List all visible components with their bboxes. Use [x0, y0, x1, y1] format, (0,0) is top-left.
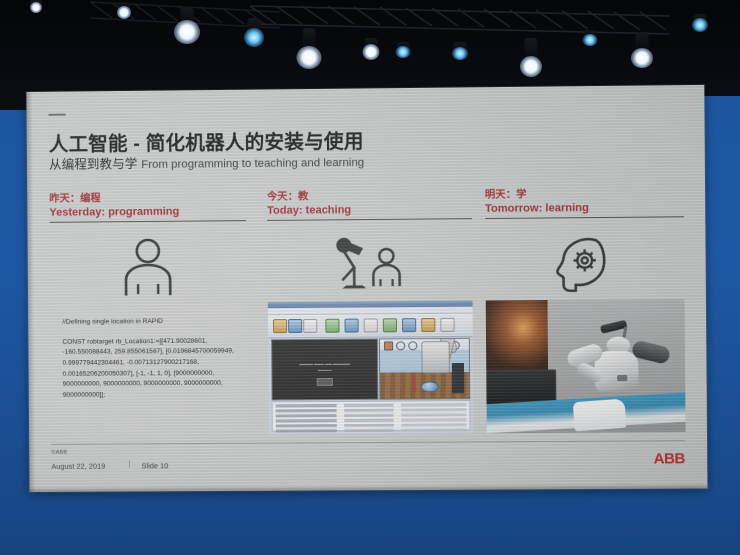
- toolbar-icon[interactable]: [344, 319, 358, 333]
- column-header-cn: 昨天：编程: [49, 188, 246, 205]
- slide-number: Slide 10: [141, 461, 168, 470]
- column-header-en: Tomorrow: learning: [485, 201, 684, 215]
- modal-dialog-panel: ▬▬▬▬ ▬▬▬ ▬▬ ▬▬▬▬▬ ▬▬▬▬: [271, 338, 378, 400]
- table-row: [276, 413, 467, 417]
- column-header-en: Yesterday: programming: [49, 205, 246, 219]
- viewport-icon[interactable]: [384, 341, 393, 350]
- column-header-today: 今天：教 Today: teaching: [267, 186, 472, 221]
- head-with-gear-icon: [485, 229, 684, 293]
- column-header-yesterday: 昨天：编程 Yesterday: programming: [49, 188, 246, 223]
- title-tick-mark: [49, 114, 66, 116]
- table-row: [276, 423, 467, 427]
- data-table-panel: [272, 400, 471, 431]
- footer-divider: [51, 440, 684, 445]
- abb-logo: ABB: [654, 450, 685, 467]
- slide-canvas: 人工智能 - 简化机器人的安装与使用 从编程到教与学From programmi…: [26, 85, 707, 492]
- toolbar-icon[interactable]: [325, 319, 339, 333]
- viewport-icon[interactable]: [396, 341, 405, 350]
- subtitle-en: From programming to teaching and learnin…: [141, 157, 364, 171]
- robotstudio-screenshot-panel: ▬▬▬▬ ▬▬▬ ▬▬ ▬▬▬▬▬ ▬▬▬▬: [268, 301, 474, 435]
- robot-arm-with-person-icon: [267, 231, 472, 295]
- code-body: CONST robtarget rb_Location1:=[[471.9002…: [62, 336, 237, 401]
- toolbar-icon[interactable]: [364, 318, 378, 332]
- subtitle-cn: 从编程到教与学: [49, 157, 137, 172]
- presentation-room-scene: 人工智能 - 简化机器人的安装与使用 从编程到教与学From programmi…: [0, 0, 740, 555]
- toolbar-icon[interactable]: [303, 319, 317, 333]
- copyright-text: ©ABB: [51, 450, 67, 456]
- dialog-message: ▬▬▬▬ ▬▬▬ ▬▬ ▬▬▬▬▬ ▬▬▬▬: [282, 362, 367, 386]
- viewport-icon[interactable]: [408, 341, 417, 350]
- code-block-panel: //Defining single location in RAPID CONS…: [50, 302, 248, 436]
- column-header-en: Today: teaching: [267, 203, 472, 217]
- table-row: [276, 403, 467, 407]
- 3d-viewport[interactable]: [379, 338, 470, 400]
- projection-screen: 人工智能 - 简化机器人的安装与使用 从编程到教与学From programmi…: [26, 85, 707, 492]
- window-ribbon-toolbar: [268, 314, 473, 339]
- viewport-fixture: [452, 363, 464, 393]
- column-rule: [267, 218, 472, 221]
- toolbar-icon[interactable]: [273, 319, 287, 333]
- photo-white-workpiece: [573, 399, 627, 432]
- robot-arm-base: [421, 341, 450, 373]
- toolbar-icon[interactable]: [402, 318, 416, 332]
- column-rule: [49, 220, 246, 223]
- toolbar-icon[interactable]: [383, 318, 397, 332]
- table-row: [276, 418, 467, 422]
- photo-robot-label: [617, 375, 626, 381]
- robot-photograph: [486, 299, 686, 433]
- toolbar-icon[interactable]: [288, 319, 302, 333]
- workpiece-rod: [412, 375, 415, 393]
- toolbar-icon[interactable]: [440, 318, 454, 332]
- page-subtitle: 从编程到教与学From programming to teaching and …: [49, 151, 364, 173]
- table-row: [276, 428, 467, 432]
- rapid-code: //Defining single location in RAPID CONS…: [50, 302, 247, 409]
- dual-arm-robot-photo-panel: [486, 299, 686, 433]
- column-rule: [485, 216, 684, 219]
- code-comment: //Defining single location in RAPID: [62, 316, 237, 328]
- column-header-cn: 今天：教: [267, 186, 472, 203]
- person-icon: [50, 233, 247, 297]
- dialog-ok-button[interactable]: [317, 378, 333, 386]
- robotstudio-window: ▬▬▬▬ ▬▬▬ ▬▬ ▬▬▬▬▬ ▬▬▬▬: [268, 301, 474, 435]
- footer-date: August 22, 2019: [51, 462, 105, 471]
- column-header-tomorrow: 明天：学 Tomorrow: learning: [485, 184, 684, 219]
- toolbar-icon[interactable]: [421, 318, 435, 332]
- table-row: [276, 408, 467, 412]
- column-header-cn: 明天：学: [485, 184, 684, 201]
- footer-separator: |: [128, 459, 130, 468]
